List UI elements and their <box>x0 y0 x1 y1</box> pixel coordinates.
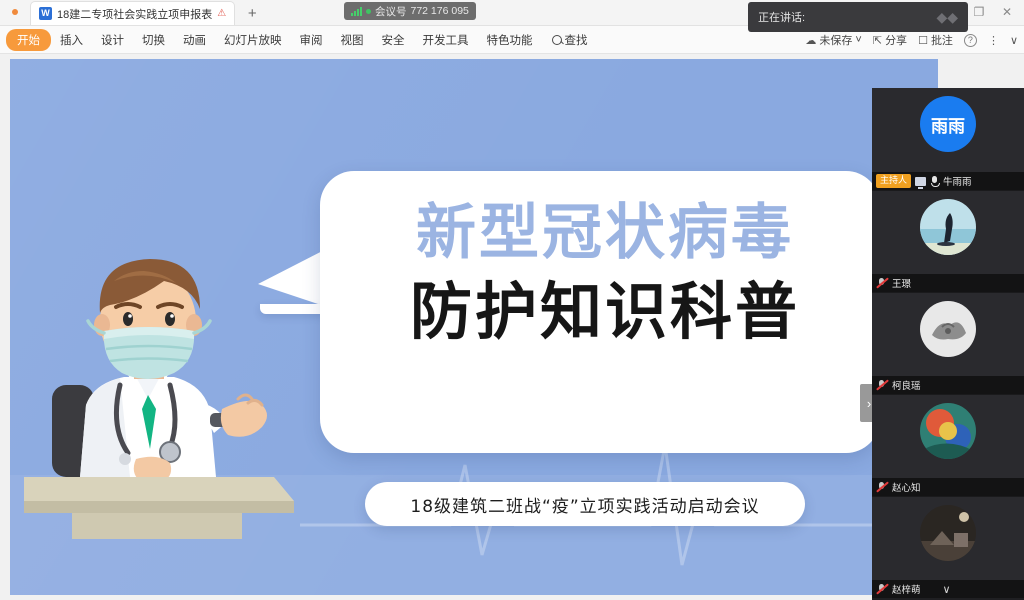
mic-muted-icon <box>876 379 888 391</box>
close-button[interactable]: ✕ <box>994 1 1020 23</box>
meeting-participants-panel: 雨雨 主持人 牛雨雨 王璟 <box>872 88 1024 600</box>
participant-tile[interactable]: 王璟 <box>872 190 1024 292</box>
chevron-down-icon: ˅ <box>855 34 861 46</box>
restore-button[interactable]: ❐ <box>966 1 992 23</box>
menu-item-transitions[interactable]: 切换 <box>133 29 174 51</box>
mic-muted-icon <box>876 277 888 289</box>
menu-item-insert[interactable]: 插入 <box>51 29 92 51</box>
slide-title-group: 新型冠状病毒 防护知识科普 <box>340 199 870 347</box>
share-button[interactable]: ⇱ 分享 <box>873 32 907 48</box>
participant-name: 赵梓萌 <box>892 582 921 596</box>
new-tab-button[interactable]: + <box>235 1 269 25</box>
document-tab[interactable]: W 18建二专项社会实践立项申报表 ⚠ <box>30 1 235 25</box>
save-state-button[interactable]: ☁ 未保存 ˅ <box>805 32 861 48</box>
find-label: 查找 <box>565 32 588 48</box>
comment-icon: ☐ <box>918 34 928 47</box>
collapse-ribbon-icon[interactable]: ∨ <box>1010 34 1018 47</box>
host-badge: 主持人 <box>876 174 911 188</box>
window-controls: ❐ ✕ <box>966 0 1020 24</box>
avatar: 雨雨 <box>920 96 976 152</box>
participant-name-row: 柯良瑶 <box>872 376 1024 394</box>
menu-item-design[interactable]: 设计 <box>92 29 133 51</box>
share-icon: ⇱ <box>873 34 882 47</box>
participant-name-row: 王璟 <box>872 274 1024 292</box>
slide-subtitle-pill: 18级建筑二班战“疫”立项实践活动启动会议 <box>365 482 805 526</box>
participant-tile[interactable]: 赵心知 <box>872 394 1024 496</box>
screen-share-icon <box>915 177 926 186</box>
wps-logo-dot <box>12 9 18 15</box>
avatar <box>920 301 976 357</box>
comment-label: 批注 <box>931 32 953 48</box>
signal-strength-icon <box>351 7 362 16</box>
cloud-save-icon: ☁ <box>805 34 816 47</box>
share-label: 分享 <box>885 32 907 48</box>
meeting-id-label: 会议号 <box>375 4 407 19</box>
meeting-id-number: 772 176 095 <box>411 5 469 17</box>
menu-item-developer[interactable]: 开发工具 <box>414 29 478 51</box>
participant-name: 赵心知 <box>892 480 921 494</box>
wps-file-icon: W <box>39 7 52 20</box>
slide-title-line1: 新型冠状病毒 <box>340 199 870 268</box>
participant-name-row: 赵梓萌 ∨ <box>872 580 1024 598</box>
menu-item-security[interactable]: 安全 <box>373 29 414 51</box>
participant-name: 牛雨雨 <box>943 174 972 188</box>
comment-button[interactable]: ☐ 批注 <box>918 32 953 48</box>
expand-participants-icon[interactable]: ∨ <box>943 583 951 596</box>
menu-item-review[interactable]: 审阅 <box>291 29 332 51</box>
document-tab-title: 18建二专项社会实践立项申报表 <box>57 6 212 22</box>
participant-name-row: 主持人 牛雨雨 <box>872 172 1024 190</box>
menu-item-animations[interactable]: 动画 <box>174 29 215 51</box>
mic-on-icon <box>930 176 939 187</box>
mic-muted-icon <box>876 583 888 595</box>
now-speaking-label: 正在讲话: <box>758 9 805 25</box>
menu-item-slideshow[interactable]: 幻灯片放映 <box>215 29 291 51</box>
menu-item-view[interactable]: 视图 <box>332 29 373 51</box>
meeting-id-chip[interactable]: 会议号 772 176 095 <box>344 2 476 20</box>
find-button[interactable]: 查找 <box>542 32 588 48</box>
warning-icon: ⚠ <box>217 9 226 19</box>
menu-item-start[interactable]: 开始 <box>6 29 51 51</box>
slide-stage: 新型冠状病毒 防护知识科普 18级建筑二班战“疫”立项实践活动启动会议 › ● … <box>0 54 1024 600</box>
menu-item-special[interactable]: 特色功能 <box>478 29 542 51</box>
search-icon <box>552 35 562 45</box>
participant-tile[interactable]: 赵梓萌 ∨ <box>872 496 1024 598</box>
slide-subtitle-text: 18级建筑二班战“疫”立项实践活动启动会议 <box>410 492 759 517</box>
speaker-avatars-placeholder: ◆◆ <box>936 9 958 26</box>
mic-muted-icon <box>876 481 888 493</box>
help-icon[interactable]: ? <box>964 34 977 47</box>
save-state-label: 未保存 <box>819 32 852 48</box>
participant-name-row: 赵心知 <box>872 478 1024 496</box>
now-speaking-bar: 正在讲话: ◆◆ <box>748 2 968 32</box>
avatar <box>920 505 976 561</box>
participant-tile[interactable]: 柯良瑶 <box>872 292 1024 394</box>
tab-bar-lead <box>0 0 30 25</box>
slide-canvas[interactable]: 新型冠状病毒 防护知识科普 18级建筑二班战“疫”立项实践活动启动会议 <box>10 59 938 595</box>
avatar <box>920 403 976 459</box>
participant-tile-host[interactable]: 雨雨 主持人 牛雨雨 <box>872 88 1024 190</box>
participant-name: 王璟 <box>892 276 911 290</box>
slide-title-line2: 防护知识科普 <box>340 276 870 347</box>
wps-presentation-window: W 18建二专项社会实践立项申报表 ⚠ + 会议号 772 176 095 ❐ … <box>0 0 1024 600</box>
avatar <box>920 199 976 255</box>
participant-name: 柯良瑶 <box>892 378 921 392</box>
connection-status-icon <box>366 9 371 14</box>
more-options-icon[interactable]: ⋮ <box>988 34 999 47</box>
